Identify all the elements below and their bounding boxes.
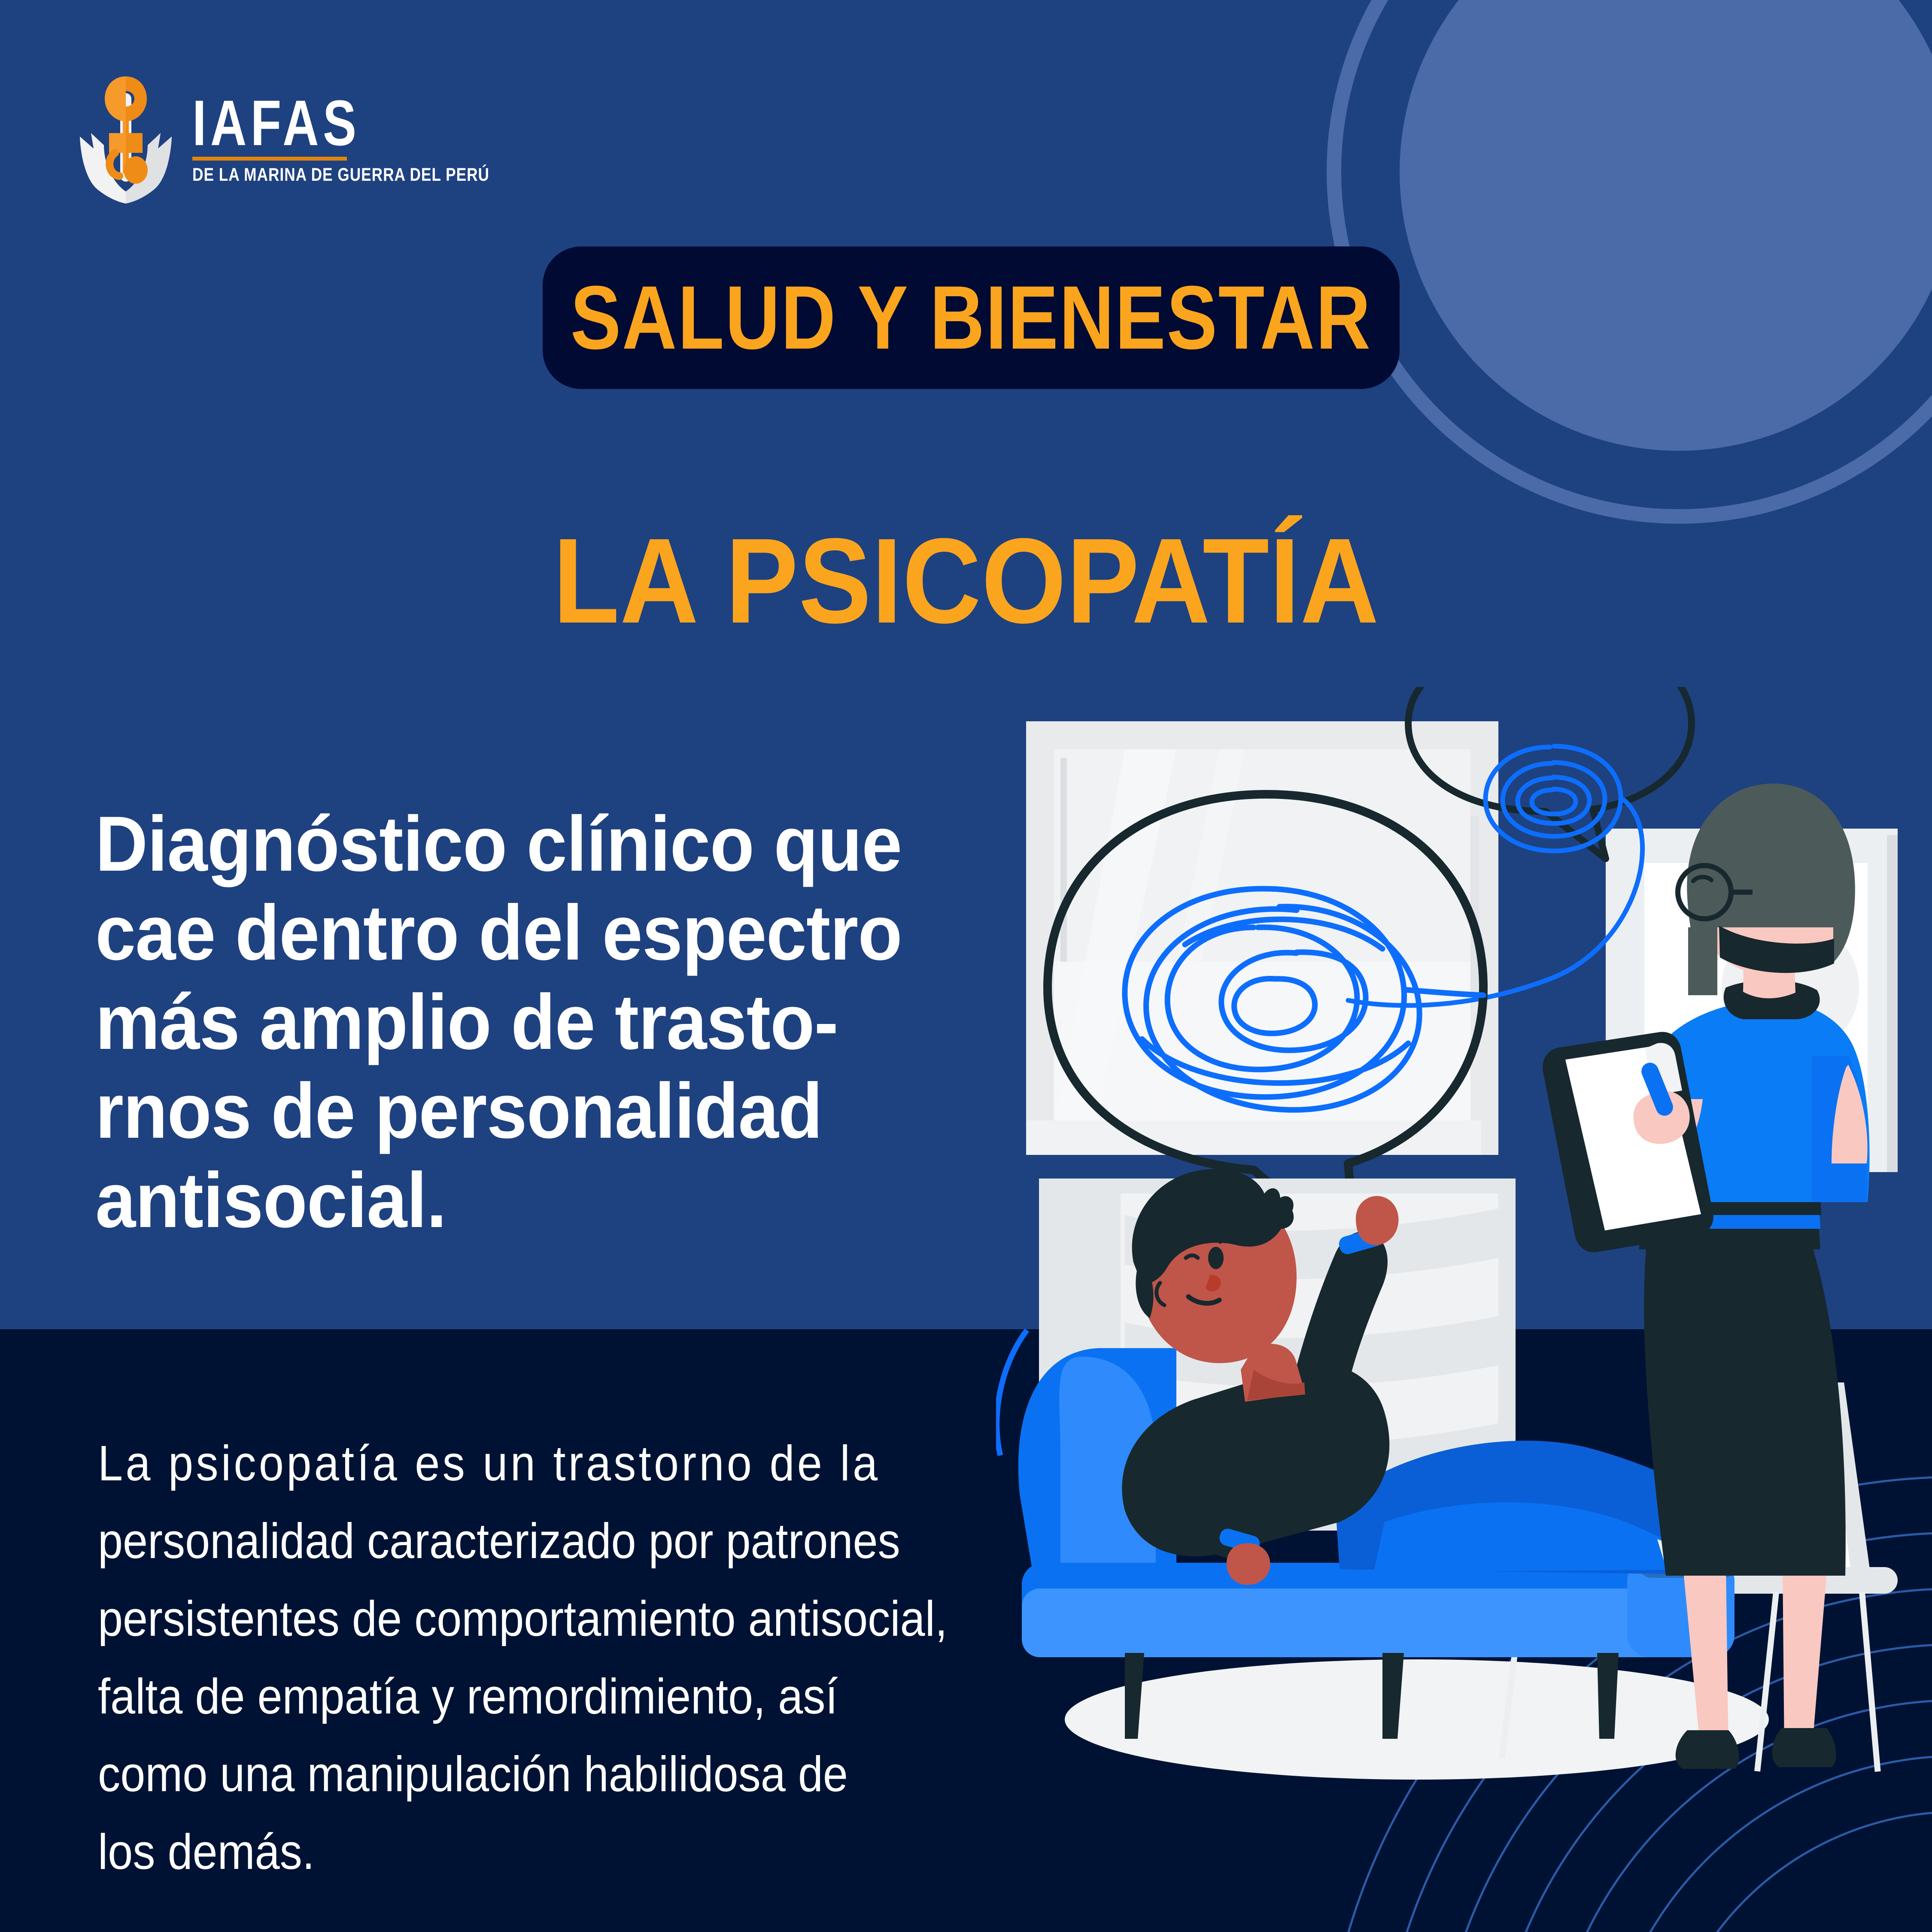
lead-paragraph: Diagnóstico clínico que cae dentro del e… <box>95 799 1014 1245</box>
logo-wordmark: IAFAS DE LA MARINA DE GUERRA DEL PERÚ <box>192 69 555 184</box>
body-line: persistentes de comportamiento antisocia… <box>98 1580 921 1658</box>
body-line: falta de empatía y remordimiento, así <box>98 1658 921 1735</box>
lead-line: cae dentro del espectro <box>95 888 950 977</box>
body-line: los demás. <box>98 1813 921 1891</box>
page-title: LA PSICOPATÍA <box>0 520 1932 641</box>
body-line: como una manipulación habilidosa de <box>98 1735 921 1813</box>
anchor-icon <box>72 69 179 206</box>
body-paragraph: La psicopatía es un trastorno de la pers… <box>98 1425 1012 1891</box>
body-line: La psicopatía es un trastorno de la <box>98 1425 921 1502</box>
category-badge-label: SALUD Y BIENESTAR <box>571 273 1372 363</box>
floor-rug <box>1065 1659 1769 1780</box>
logo-name: IAFAS <box>192 95 475 151</box>
category-badge: SALUD Y BIENESTAR <box>543 246 1400 389</box>
logo-subtitle: DE LA MARINA DE GUERRA DEL PERÚ <box>192 166 489 184</box>
lead-line: más amplio de trasto- <box>95 978 950 1066</box>
page-title-text: LA PSICOPATÍA <box>553 520 1379 641</box>
lead-line: Diagnóstico clínico que <box>95 799 950 888</box>
body-line: personalidad caracterizado por patrones <box>98 1502 921 1580</box>
therapy-session-illustration <box>996 687 1932 1846</box>
iafas-logo: IAFAS DE LA MARINA DE GUERRA DEL PERÚ <box>72 69 555 206</box>
lead-line: antisocial. <box>95 1156 950 1245</box>
wall-panel <box>1026 721 1498 1155</box>
lead-line: rnos de personalidad <box>95 1066 950 1155</box>
poster-canvas: IAFAS DE LA MARINA DE GUERRA DEL PERÚ SA… <box>0 0 1932 1932</box>
